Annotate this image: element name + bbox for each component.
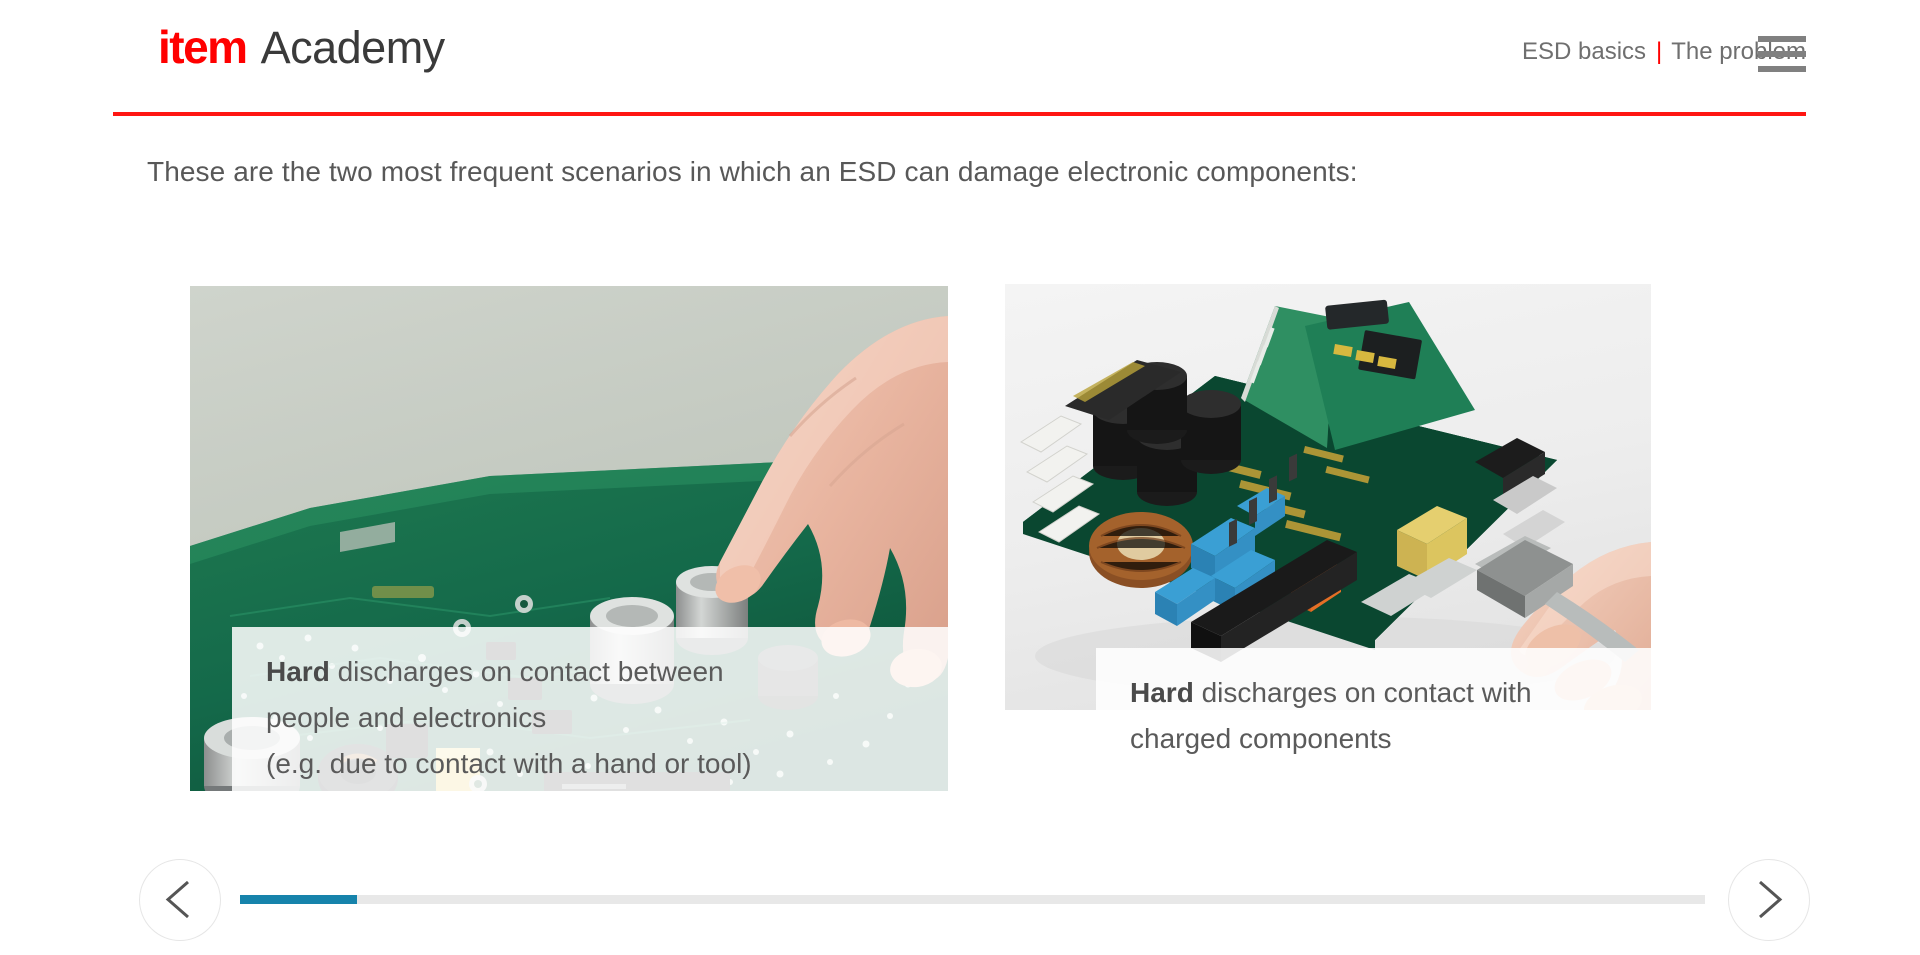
scenario-1-caption-rest: discharges on contact between [330, 656, 724, 687]
scenario-2-photo [1005, 284, 1651, 710]
hamburger-bar-top [1758, 36, 1806, 42]
scenario-1-caption-line-3: (e.g. due to contact with a hand or tool… [266, 741, 914, 787]
scenario-card-1[interactable]: Hard discharges on contact between peopl… [190, 286, 948, 791]
scenario-2-caption-bold: Hard [1130, 677, 1194, 708]
scenario-2-caption-line-1: Hard discharges on contact with [1130, 670, 1617, 716]
breadcrumb-parent-link[interactable]: ESD basics [1522, 38, 1646, 66]
chevron-right-icon [1729, 860, 1808, 939]
brand-academy-text: Academy [261, 22, 445, 74]
hamburger-bar-middle [1758, 51, 1806, 57]
slide-progress-fill [240, 895, 357, 904]
hamburger-bar-bottom [1758, 66, 1806, 72]
scenario-1-caption-bold: Hard [266, 656, 330, 687]
brand-logo[interactable]: item Academy [158, 20, 445, 74]
scenario-2-caption-rest: discharges on contact with [1194, 677, 1532, 708]
scenario-1-caption-line-1: Hard discharges on contact between [266, 649, 914, 695]
page-header: item Academy ESD basics | The problem [0, 0, 1920, 120]
slide-progress-bar[interactable] [240, 895, 1705, 904]
breadcrumb-separator: | [1656, 38, 1662, 66]
next-slide-button[interactable] [1728, 859, 1810, 941]
scenario-2-caption: Hard discharges on contact with charged … [1096, 648, 1651, 788]
header-divider-rule [113, 112, 1806, 116]
scenario-1-caption-line-2: people and electronics [266, 695, 914, 741]
brand-item-text: item [158, 20, 247, 74]
hamburger-menu-icon[interactable] [1758, 36, 1806, 72]
scenario-card-2[interactable]: Hard discharges on contact with charged … [1005, 284, 1651, 710]
scenario-2-caption-line-2: charged components [1130, 716, 1617, 762]
page-intro-text: These are the two most frequent scenario… [147, 156, 1358, 188]
chevron-left-icon [140, 860, 219, 939]
previous-slide-button[interactable] [139, 859, 221, 941]
scenario-1-caption: Hard discharges on contact between peopl… [232, 627, 948, 813]
